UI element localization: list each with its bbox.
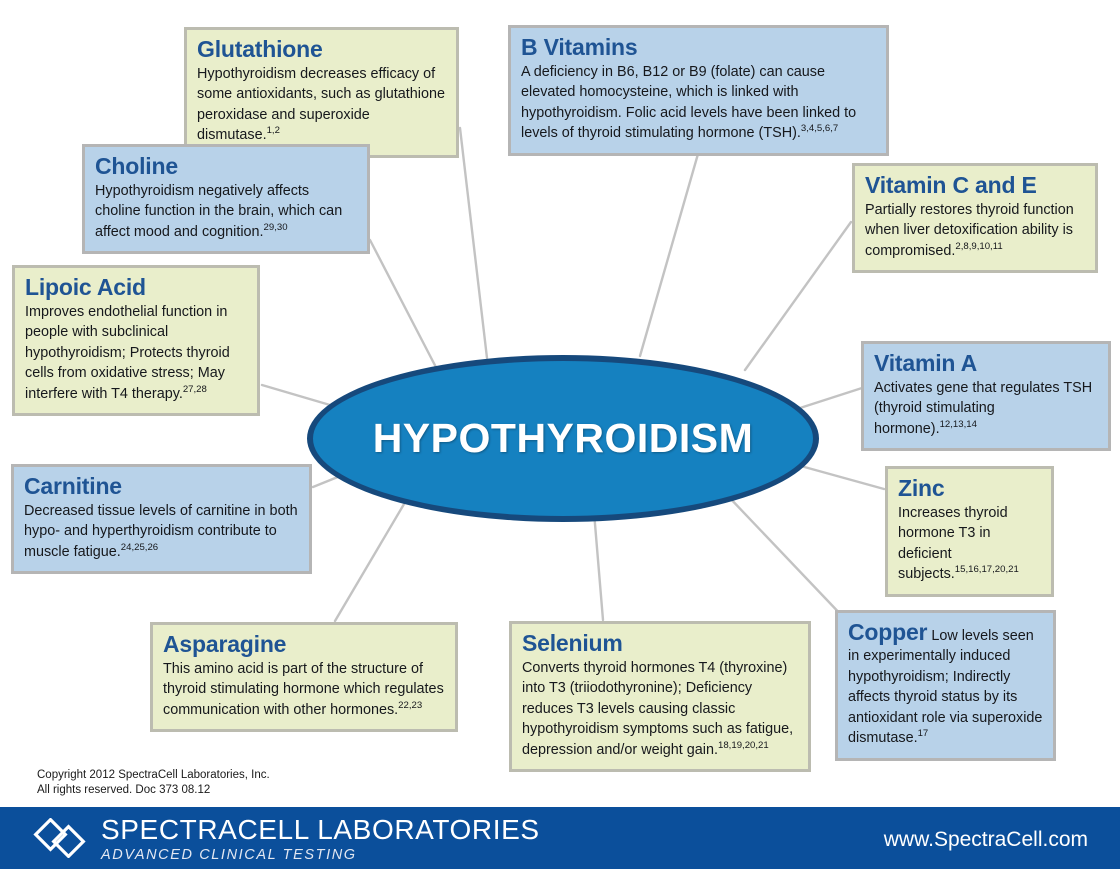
node-body: A deficiency in B6, B12 or B9 (folate) c… bbox=[521, 62, 876, 144]
copyright-line-1: Copyright 2012 SpectraCell Laboratories,… bbox=[37, 768, 270, 783]
node-vitamin-c-and-e[interactable]: Vitamin C and E Partially restores thyro… bbox=[852, 163, 1098, 273]
footer-bar: SPECTRACELL LABORATORIES ADVANCED CLINIC… bbox=[0, 807, 1120, 869]
node-title: B Vitamins bbox=[521, 35, 876, 61]
node-body: Increases thyroid hormone T3 in deficien… bbox=[898, 503, 1041, 585]
node-title: Carnitine bbox=[24, 474, 299, 500]
node-refs: 24,25,26 bbox=[121, 542, 158, 553]
node-refs: 18,19,20,21 bbox=[718, 740, 769, 751]
node-glutathione[interactable]: Glutathione Hypothyroidism decreases eff… bbox=[184, 27, 459, 158]
node-copper[interactable]: Copper Low levels seen in experimentally… bbox=[835, 610, 1056, 761]
node-choline[interactable]: Choline Hypothyroidism negatively affect… bbox=[82, 144, 370, 254]
node-title: Selenium bbox=[522, 631, 798, 657]
connector-vitamin-c-and-e bbox=[745, 222, 851, 370]
central-node-hypothyroidism[interactable]: HYPOTHYROIDISM bbox=[307, 355, 819, 522]
copyright-block: Copyright 2012 SpectraCell Laboratories,… bbox=[37, 768, 270, 798]
node-zinc[interactable]: Zinc Increases thyroid hormone T3 in def… bbox=[885, 466, 1054, 597]
node-refs: 1,2 bbox=[267, 125, 280, 136]
connector-zinc bbox=[790, 463, 884, 489]
node-b-vitamins[interactable]: B Vitamins A deficiency in B6, B12 or B9… bbox=[508, 25, 889, 156]
node-body: Decreased tissue levels of carnitine in … bbox=[24, 501, 299, 562]
node-refs: 17 bbox=[918, 728, 929, 739]
node-title: Vitamin A bbox=[874, 351, 1098, 377]
node-refs: 22,23 bbox=[398, 700, 422, 711]
node-body: Partially restores thyroid function when… bbox=[865, 200, 1085, 261]
node-body: Hypothyroidism negatively affects cholin… bbox=[95, 181, 357, 242]
node-title: Zinc bbox=[898, 476, 1041, 502]
node-title: Choline bbox=[95, 154, 357, 180]
node-vitamin-a[interactable]: Vitamin A Activates gene that regulates … bbox=[861, 341, 1111, 451]
node-body: Hypothyroidism decreases efficacy of som… bbox=[197, 64, 446, 146]
connector-lipoic-acid bbox=[262, 385, 330, 405]
node-body: Activates gene that regulates TSH (thyro… bbox=[874, 378, 1098, 439]
node-body: This amino acid is part of the structure… bbox=[163, 659, 445, 720]
node-selenium[interactable]: Selenium Converts thyroid hormones T4 (t… bbox=[509, 621, 811, 772]
node-refs: 2,8,9,10,11 bbox=[955, 241, 1002, 252]
logo-title: SPECTRACELL LABORATORIES bbox=[101, 816, 540, 844]
node-title: Lipoic Acid bbox=[25, 275, 247, 301]
node-body: Converts thyroid hormones T4 (thyroxine)… bbox=[522, 658, 798, 760]
node-lipoic-acid[interactable]: Lipoic Acid Improves endothelial functio… bbox=[12, 265, 260, 416]
website-link[interactable]: www.SpectraCell.com bbox=[884, 828, 1088, 852]
node-refs: 27,28 bbox=[183, 384, 207, 395]
infographic-canvas: Glutathione Hypothyroidism decreases eff… bbox=[0, 0, 1120, 869]
node-title: Vitamin C and E bbox=[865, 173, 1085, 199]
logo-subtitle: ADVANCED CLINICAL TESTING bbox=[101, 847, 540, 863]
node-title: Copper bbox=[848, 619, 927, 645]
connector-copper bbox=[727, 495, 846, 620]
connector-asparagine bbox=[335, 499, 407, 621]
node-refs: 15,16,17,20,21 bbox=[955, 564, 1019, 575]
connector-choline bbox=[370, 240, 440, 375]
node-refs: 29,30 bbox=[264, 222, 288, 233]
connector-b-vitamins bbox=[640, 140, 702, 356]
node-body: Improves endothelial function in people … bbox=[25, 302, 247, 404]
interlocking-diamonds-icon bbox=[30, 818, 92, 863]
node-asparagine[interactable]: Asparagine This amino acid is part of th… bbox=[150, 622, 458, 732]
node-title: Glutathione bbox=[197, 37, 446, 63]
brand-logo[interactable]: SPECTRACELL LABORATORIES ADVANCED CLINIC… bbox=[30, 816, 540, 863]
central-node-label: HYPOTHYROIDISM bbox=[373, 415, 754, 462]
connector-vitamin-a bbox=[800, 388, 862, 408]
connector-selenium bbox=[594, 512, 603, 620]
node-carnitine[interactable]: Carnitine Decreased tissue levels of car… bbox=[11, 464, 312, 574]
copyright-line-2: All rights reserved. Doc 373 08.12 bbox=[37, 783, 270, 798]
node-refs: 3,4,5,6,7 bbox=[801, 123, 838, 134]
node-title: Asparagine bbox=[163, 632, 445, 658]
node-body: Low levels seen in experimentally induce… bbox=[848, 628, 1042, 746]
connector-glutathione bbox=[460, 128, 487, 358]
node-refs: 12,13,14 bbox=[940, 419, 977, 430]
